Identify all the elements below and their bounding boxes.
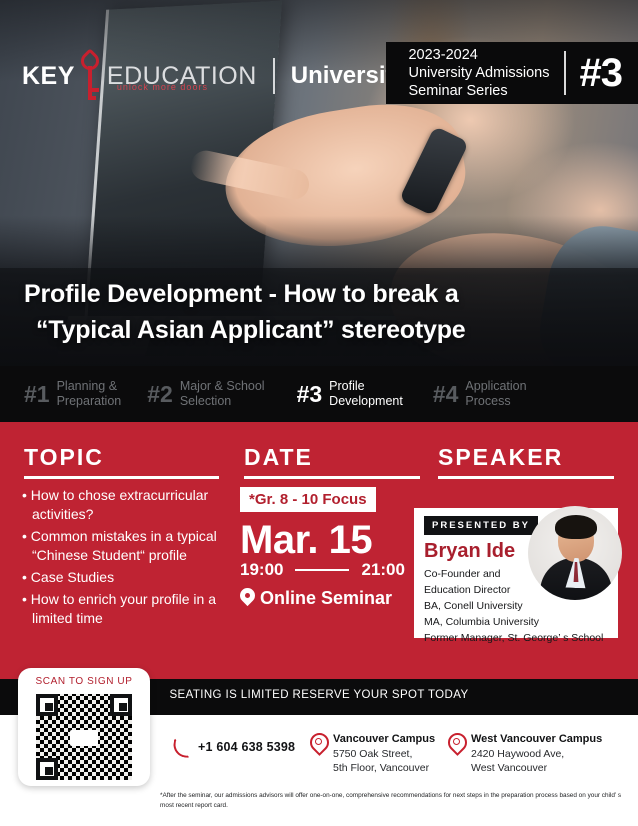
series-badge: 2023-2024 University Admissions Seminar … [386, 42, 638, 104]
speaker-credential-line: Former Manager, St. George’ s School [424, 630, 616, 646]
seminar-poster: KEY EDUCATION unlock more doors Universi… [0, 0, 638, 826]
contact-phone[interactable]: +1 604 638 5398 [172, 738, 295, 755]
speaker-name: Bryan Ide [424, 540, 515, 563]
phone-icon [172, 738, 189, 755]
location-pin-icon [448, 732, 464, 754]
qr-finder-top-left [36, 694, 58, 716]
step-label-3: Profile Development [329, 379, 403, 409]
topic-heading-rule [24, 476, 219, 479]
step-label-2-line2: Selection [180, 394, 265, 409]
step-label-4-line1: Application [465, 379, 526, 394]
series-text: 2023-2024 University Admissions Seminar … [408, 46, 549, 101]
step-label-3-line2: Development [329, 394, 403, 409]
key-icon [77, 52, 103, 100]
event-start-time: 19:00 [240, 560, 283, 580]
campus-west-vancouver-text: West Vancouver Campus 2420 Haywood Ave, … [471, 732, 602, 775]
topic-item: Common mistakes in a typical “Chinese St… [20, 527, 235, 565]
event-time-range: 19:00 21:00 [240, 560, 405, 580]
date-heading-rule [244, 476, 420, 479]
qr-caption: SCAN TO SIGN UP [18, 676, 150, 687]
speaker-heading: SPEAKER [438, 444, 563, 471]
contact-campus-west-vancouver: West Vancouver Campus 2420 Haywood Ave, … [448, 732, 602, 775]
step-label-4: Application Process [465, 379, 526, 409]
date-heading: DATE [244, 444, 313, 471]
logo-divider [273, 58, 275, 94]
step-label-3-line1: Profile [329, 379, 403, 394]
time-range-divider [295, 569, 349, 571]
topic-item: Case Studies [20, 568, 235, 587]
campus-name: West Vancouver Campus [471, 732, 602, 747]
event-end-time: 21:00 [361, 560, 404, 580]
logo-tagline: unlock more doors [117, 82, 208, 92]
presented-by-tag: PRESENTED BY [424, 516, 538, 535]
logo-education-wrap: EDUCATION unlock more doors [107, 62, 257, 91]
location-pin-icon [310, 732, 326, 754]
speaker-avatar [528, 506, 622, 600]
qr-signup-card[interactable]: SCAN TO SIGN UP [18, 668, 150, 786]
brand-logo: KEY EDUCATION unlock more doors Universi… [22, 52, 407, 100]
speaker-card: PRESENTED BY Bryan Ide Co-Founder and Ed… [414, 508, 618, 638]
qr-finder-top-right [110, 694, 132, 716]
title-line-2: “Typical Asian Applicant” stereotype [36, 316, 465, 345]
series-years: 2023-2024 [408, 46, 549, 64]
seminar-step-bar: #1 Planning & Preparation #2 Major & Sch… [0, 366, 638, 422]
topic-item: How to enrich your profile in a limited … [20, 590, 235, 628]
grade-focus-badge: *Gr. 8 - 10 Focus [240, 487, 376, 512]
event-venue-label: Online Seminar [260, 588, 392, 609]
campus-name: Vancouver Campus [333, 732, 435, 747]
location-pin-icon [240, 588, 255, 609]
campus-vancouver-text: Vancouver Campus 5750 Oak Street, 5th Fl… [333, 732, 435, 775]
speaker-heading-rule [438, 476, 614, 479]
step-label-4-line2: Process [465, 394, 526, 409]
title-line-1: Profile Development - How to break a [24, 280, 459, 309]
series-number: #3 [580, 51, 623, 96]
step-label-1-line1: Planning & [57, 379, 122, 394]
step-number-1: #1 [24, 381, 50, 408]
event-venue: Online Seminar [240, 588, 392, 609]
campus-address-line2: 5th Floor, Vancouver [333, 761, 435, 775]
campus-address-line2: West Vancouver [471, 761, 602, 775]
qr-center-logo [70, 730, 98, 746]
topic-heading: TOPIC [24, 444, 104, 471]
topic-list: How to chose extracurricular activities?… [20, 486, 235, 631]
event-date: Mar. 15 [240, 518, 372, 563]
speaker-credential-line: MA, Columbia University [424, 614, 616, 630]
step-number-3: #3 [297, 381, 323, 408]
phone-number: +1 604 638 5398 [198, 740, 295, 754]
step-label-1-line2: Preparation [57, 394, 122, 409]
step-item-1[interactable]: #1 Planning & Preparation [24, 379, 121, 409]
speaker-credential-line: BA, Conell University [424, 598, 616, 614]
topic-item: How to chose extracurricular activities? [20, 486, 235, 524]
disclaimer-text: *After the seminar, our admissions advis… [160, 791, 622, 810]
logo-key-word: KEY [22, 62, 75, 91]
qr-finder-bottom-left [36, 758, 58, 780]
step-number-4: #4 [433, 381, 459, 408]
step-label-2: Major & School Selection [180, 379, 265, 409]
contact-campus-vancouver: Vancouver Campus 5750 Oak Street, 5th Fl… [310, 732, 435, 775]
series-divider [564, 51, 566, 95]
series-line3: Seminar Series [408, 82, 549, 100]
step-label-1: Planning & Preparation [57, 379, 122, 409]
campus-address-line1: 2420 Haywood Ave, [471, 747, 602, 761]
series-line2: University Admissions [408, 64, 549, 82]
step-number-2: #2 [147, 381, 173, 408]
step-item-4[interactable]: #4 Application Process [433, 379, 527, 409]
title-band: Profile Development - How to break a “Ty… [0, 268, 638, 366]
step-item-2[interactable]: #2 Major & School Selection [147, 379, 264, 409]
step-label-2-line1: Major & School [180, 379, 265, 394]
step-item-3[interactable]: #3 Profile Development [297, 379, 403, 409]
campus-address-line1: 5750 Oak Street, [333, 747, 435, 761]
